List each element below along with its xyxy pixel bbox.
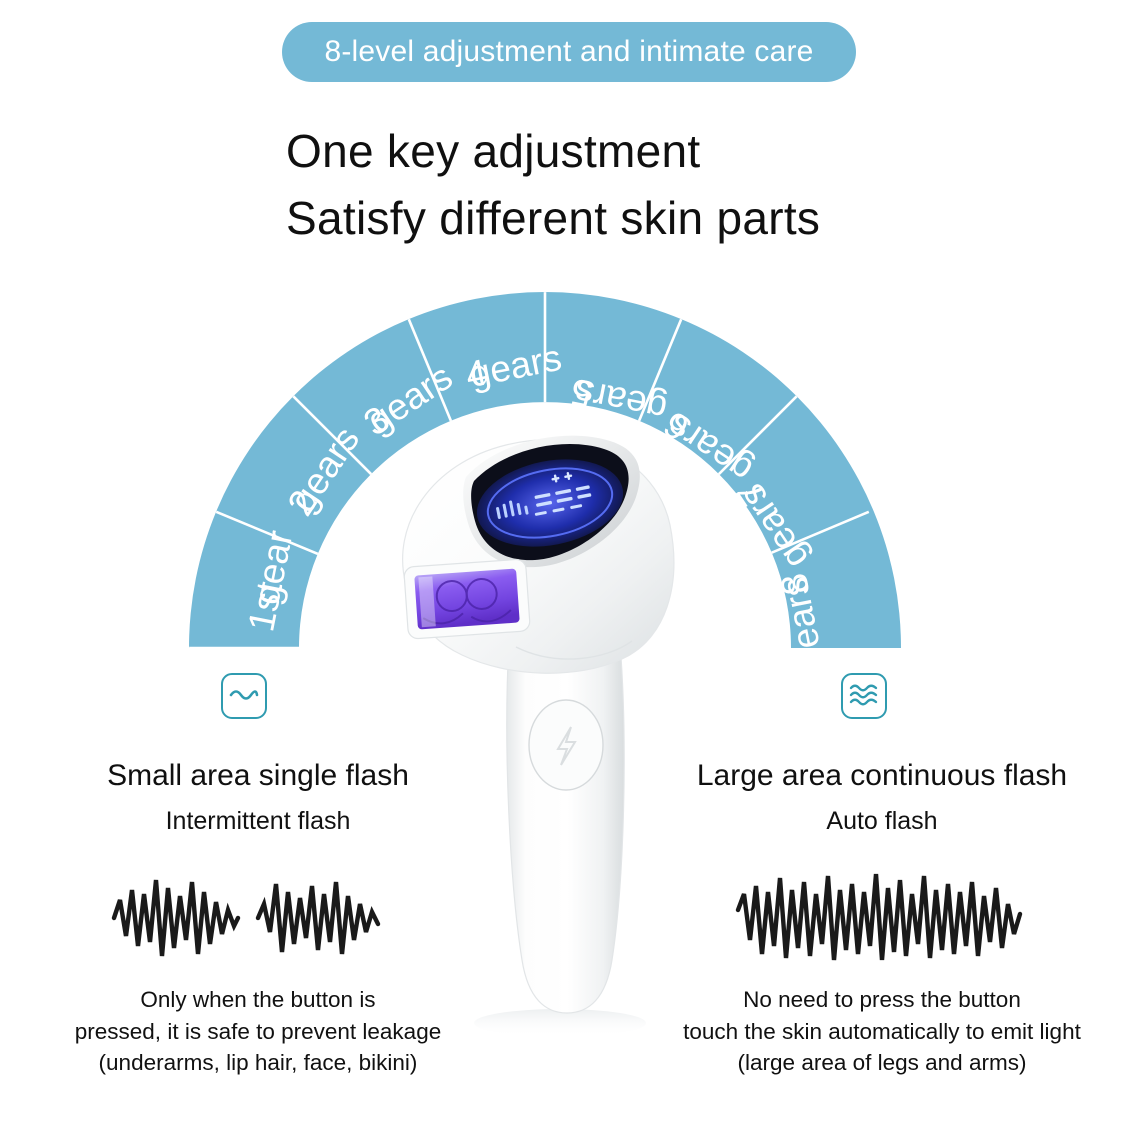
- triple-wave-icon: [841, 673, 887, 719]
- device-handle: [507, 643, 624, 1013]
- dial-segment-2: 2 gears: [280, 420, 368, 523]
- dial-segment-1-number: 1st: [240, 578, 290, 635]
- mode-right-note-line-3: (large area of legs and arms): [650, 1047, 1114, 1079]
- dial-segment-1: 1st gear: [240, 527, 300, 635]
- product-infographic: 8-level adjustment and intimate care One…: [0, 0, 1134, 1134]
- dial-segment-7-word: gears: [731, 477, 817, 577]
- page-title-line-1: One key adjustment: [286, 118, 1046, 185]
- mode-right-note-line-2: touch the skin automatically to emit lig…: [650, 1016, 1114, 1048]
- dial-segment-1-word: gear: [246, 527, 301, 608]
- power-button[interactable]: [529, 700, 603, 790]
- dial-segment-7: 7 gears: [729, 473, 817, 576]
- dial-segment-2-number: 2: [280, 483, 326, 523]
- mode-left-title: Small area single flash: [28, 758, 488, 795]
- dial-segment-8-number: 8: [773, 570, 817, 598]
- dial-segment-7-number: 7: [729, 473, 775, 513]
- mode-left-note-line-1: Only when the button is: [28, 984, 488, 1016]
- feature-badge: 8-level adjustment and intimate care: [282, 22, 856, 82]
- mode-right-title: Large area continuous flash: [650, 758, 1114, 795]
- page-title: One key adjustment Satisfy different ski…: [286, 118, 1046, 251]
- dial-segment-8: 8 gears: [773, 570, 832, 673]
- dial-segment-2-word: gears: [282, 420, 368, 520]
- mode-left-waveform: [28, 858, 488, 978]
- mode-block-intermittent: Small area single flash Intermittent fla…: [28, 758, 488, 1079]
- mode-right-note: No need to press the button touch the sk…: [650, 984, 1114, 1080]
- mode-right-note-line-1: No need to press the button: [650, 984, 1114, 1016]
- mode-right-subtitle: Auto flash: [650, 807, 1114, 836]
- dial-segment-5-number: 5: [567, 371, 595, 415]
- dial-segment-4: 4 gears: [462, 337, 565, 396]
- single-wave-icon: [221, 673, 267, 719]
- dial-segment-4-number: 4: [462, 352, 490, 396]
- dial-segment-4-word: gears: [466, 337, 565, 395]
- mode-left-note-line-2: pressed, it is safe to prevent leakage: [28, 1016, 488, 1048]
- mode-block-continuous: Large area continuous flash Auto flash N…: [650, 758, 1114, 1079]
- feature-badge-label: 8-level adjustment and intimate care: [324, 35, 813, 69]
- page-title-line-2: Satisfy different skin parts: [286, 185, 1046, 252]
- mode-left-note: Only when the button is pressed, it is s…: [28, 984, 488, 1080]
- mode-left-subtitle: Intermittent flash: [28, 807, 488, 836]
- mode-right-waveform: [650, 858, 1114, 978]
- mode-left-note-line-3: (underarms, lip hair, face, bikini): [28, 1047, 488, 1079]
- dial-segment-8-word: gears: [773, 574, 831, 673]
